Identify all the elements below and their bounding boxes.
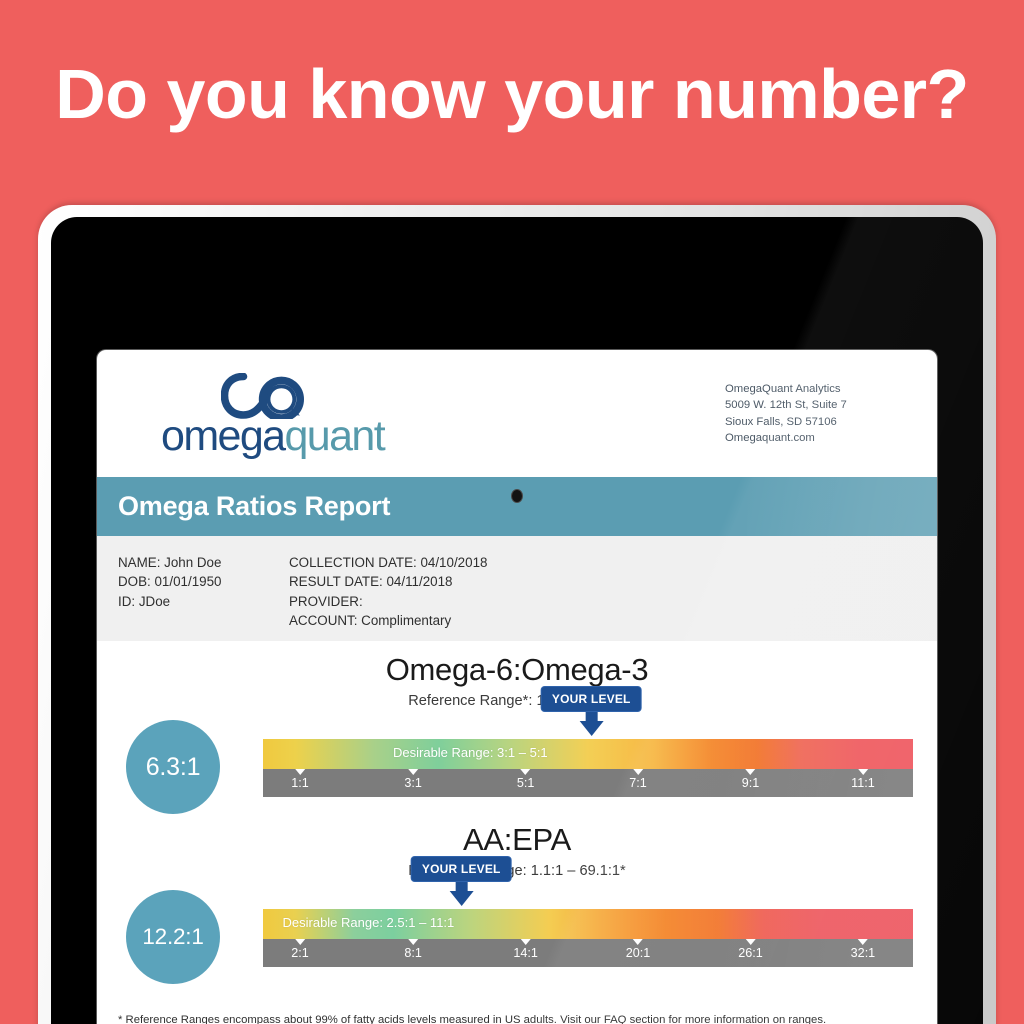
result-badge: 6.3:1 [126, 720, 220, 814]
address-line: Sioux Falls, SD 57106 [725, 414, 847, 430]
address-line-website: Omegaquant.com [725, 430, 847, 446]
your-level-label: YOUR LEVEL [541, 686, 642, 712]
tick-axis: 1:13:15:17:19:111:1 [263, 769, 913, 797]
patient-info-right: COLLECTION DATE: 04/10/2018 RESULT DATE:… [289, 553, 487, 631]
report-title-band: Omega Ratios Report [97, 477, 937, 536]
tick-label: 3:1 [404, 775, 422, 792]
tick-caret-icon [745, 769, 755, 775]
ratio-reference-range: Reference Range*: 1.9:1 – 14.6:1 [97, 693, 937, 709]
ratio-scale: YOUR LEVEL Desirable Range: 3:1 – 5:1 1:… [263, 739, 913, 797]
axis-tick: 32:1 [851, 939, 876, 962]
promo-canvas: Do you know your number? [0, 0, 1024, 1024]
footnote-text-after: section for more information on ranges. [626, 1014, 826, 1024]
tick-label: 5:1 [517, 775, 535, 792]
tick-label: 11:1 [851, 775, 875, 792]
desirable-range-label: Desirable Range: 2.5:1 – 11:1 [283, 915, 455, 930]
ratio-title: Omega-6:Omega-3 [97, 652, 937, 688]
axis-tick: 2:1 [291, 939, 309, 962]
your-level-label: YOUR LEVEL [411, 856, 512, 882]
tick-label: 26:1 [738, 945, 763, 962]
axis-tick: 20:1 [626, 939, 651, 962]
your-level-arrow-icon [449, 882, 473, 906]
your-level-marker: YOUR LEVEL [541, 686, 642, 736]
patient-info-band: NAME: John Doe DOB: 01/01/1950 ID: JDoe … [97, 536, 937, 641]
patient-id: ID: JDoe [118, 592, 221, 611]
desirable-range-label: Desirable Range: 3:1 – 5:1 [393, 745, 548, 760]
result-badge: 12.2:1 [126, 890, 220, 984]
gradient-bar: Desirable Range: 2.5:1 – 11:1 [263, 909, 913, 939]
ratio-reference-range: Reference Range: 1.1:1 – 69.1:1* [97, 863, 937, 879]
tick-label: 7:1 [629, 775, 647, 792]
tick-caret-icon [858, 939, 868, 945]
ratio-section-aa-epa: AA:EPA Reference Range: 1.1:1 – 69.1:1* … [97, 816, 937, 982]
provider: PROVIDER: [289, 592, 487, 611]
your-level-marker: YOUR LEVEL [411, 856, 512, 906]
axis-tick: 8:1 [404, 939, 422, 962]
axis-tick: 5:1 [517, 769, 535, 792]
axis-tick: 9:1 [742, 769, 760, 792]
axis-tick: 14:1 [513, 939, 538, 962]
front-camera-icon [511, 489, 523, 503]
wordmark-part-1: omega [161, 412, 284, 460]
tablet-device: omegaquant OmegaQuant Analytics 5009 W. … [38, 205, 996, 1024]
axis-tick: 11:1 [851, 769, 875, 792]
ratio-scale: YOUR LEVEL Desirable Range: 2.5:1 – 11:1… [263, 909, 913, 967]
tick-label: 2:1 [291, 945, 309, 962]
tablet-screen: omegaquant OmegaQuant Analytics 5009 W. … [51, 217, 983, 1024]
collection-date: COLLECTION DATE: 04/10/2018 [289, 553, 487, 572]
promo-headline: Do you know your number? [0, 52, 1024, 136]
patient-name: NAME: John Doe [118, 553, 221, 572]
tick-label: 9:1 [742, 775, 760, 792]
report-page: omegaquant OmegaQuant Analytics 5009 W. … [97, 350, 937, 1024]
axis-tick: 7:1 [629, 769, 647, 792]
omegaquant-wordmark: omegaquant [161, 415, 384, 458]
address-line: OmegaQuant Analytics [725, 381, 847, 397]
company-address: OmegaQuant Analytics 5009 W. 12th St, Su… [725, 381, 847, 447]
page-title: Omega Ratios Report [118, 491, 390, 522]
footnote: * Reference Ranges encompass about 99% o… [118, 1012, 918, 1024]
patient-info-left: NAME: John Doe DOB: 01/01/1950 ID: JDoe [118, 553, 221, 611]
tick-label: 14:1 [513, 945, 538, 962]
patient-dob: DOB: 01/01/1950 [118, 572, 221, 591]
axis-tick: 3:1 [404, 769, 422, 792]
ratio-section-omega6-omega3: Omega-6:Omega-3 Reference Range*: 1.9:1 … [97, 646, 937, 812]
gradient-bar: Desirable Range: 3:1 – 5:1 [263, 739, 913, 769]
account: ACCOUNT: Complimentary [289, 611, 487, 630]
axis-tick: 26:1 [738, 939, 763, 962]
faq-link[interactable]: FAQ [604, 1014, 627, 1024]
tick-label: 32:1 [851, 945, 876, 962]
tick-axis: 2:18:114:120:126:132:1 [263, 939, 913, 967]
tick-label: 20:1 [626, 945, 651, 962]
report-brand-header: omegaquant OmegaQuant Analytics 5009 W. … [97, 350, 937, 477]
ratio-title: AA:EPA [97, 822, 937, 858]
result-date: RESULT DATE: 04/11/2018 [289, 572, 487, 591]
tick-label: 1:1 [291, 775, 309, 792]
tick-caret-icon [858, 769, 868, 775]
axis-tick: 1:1 [291, 769, 309, 792]
wordmark-part-2: quant [284, 412, 384, 460]
tick-caret-icon [745, 939, 755, 945]
tick-label: 8:1 [404, 945, 422, 962]
your-level-arrow-icon [579, 712, 603, 736]
footnote-text-before: * Reference Ranges encompass about 99% o… [118, 1014, 604, 1024]
address-line: 5009 W. 12th St, Suite 7 [725, 397, 847, 413]
